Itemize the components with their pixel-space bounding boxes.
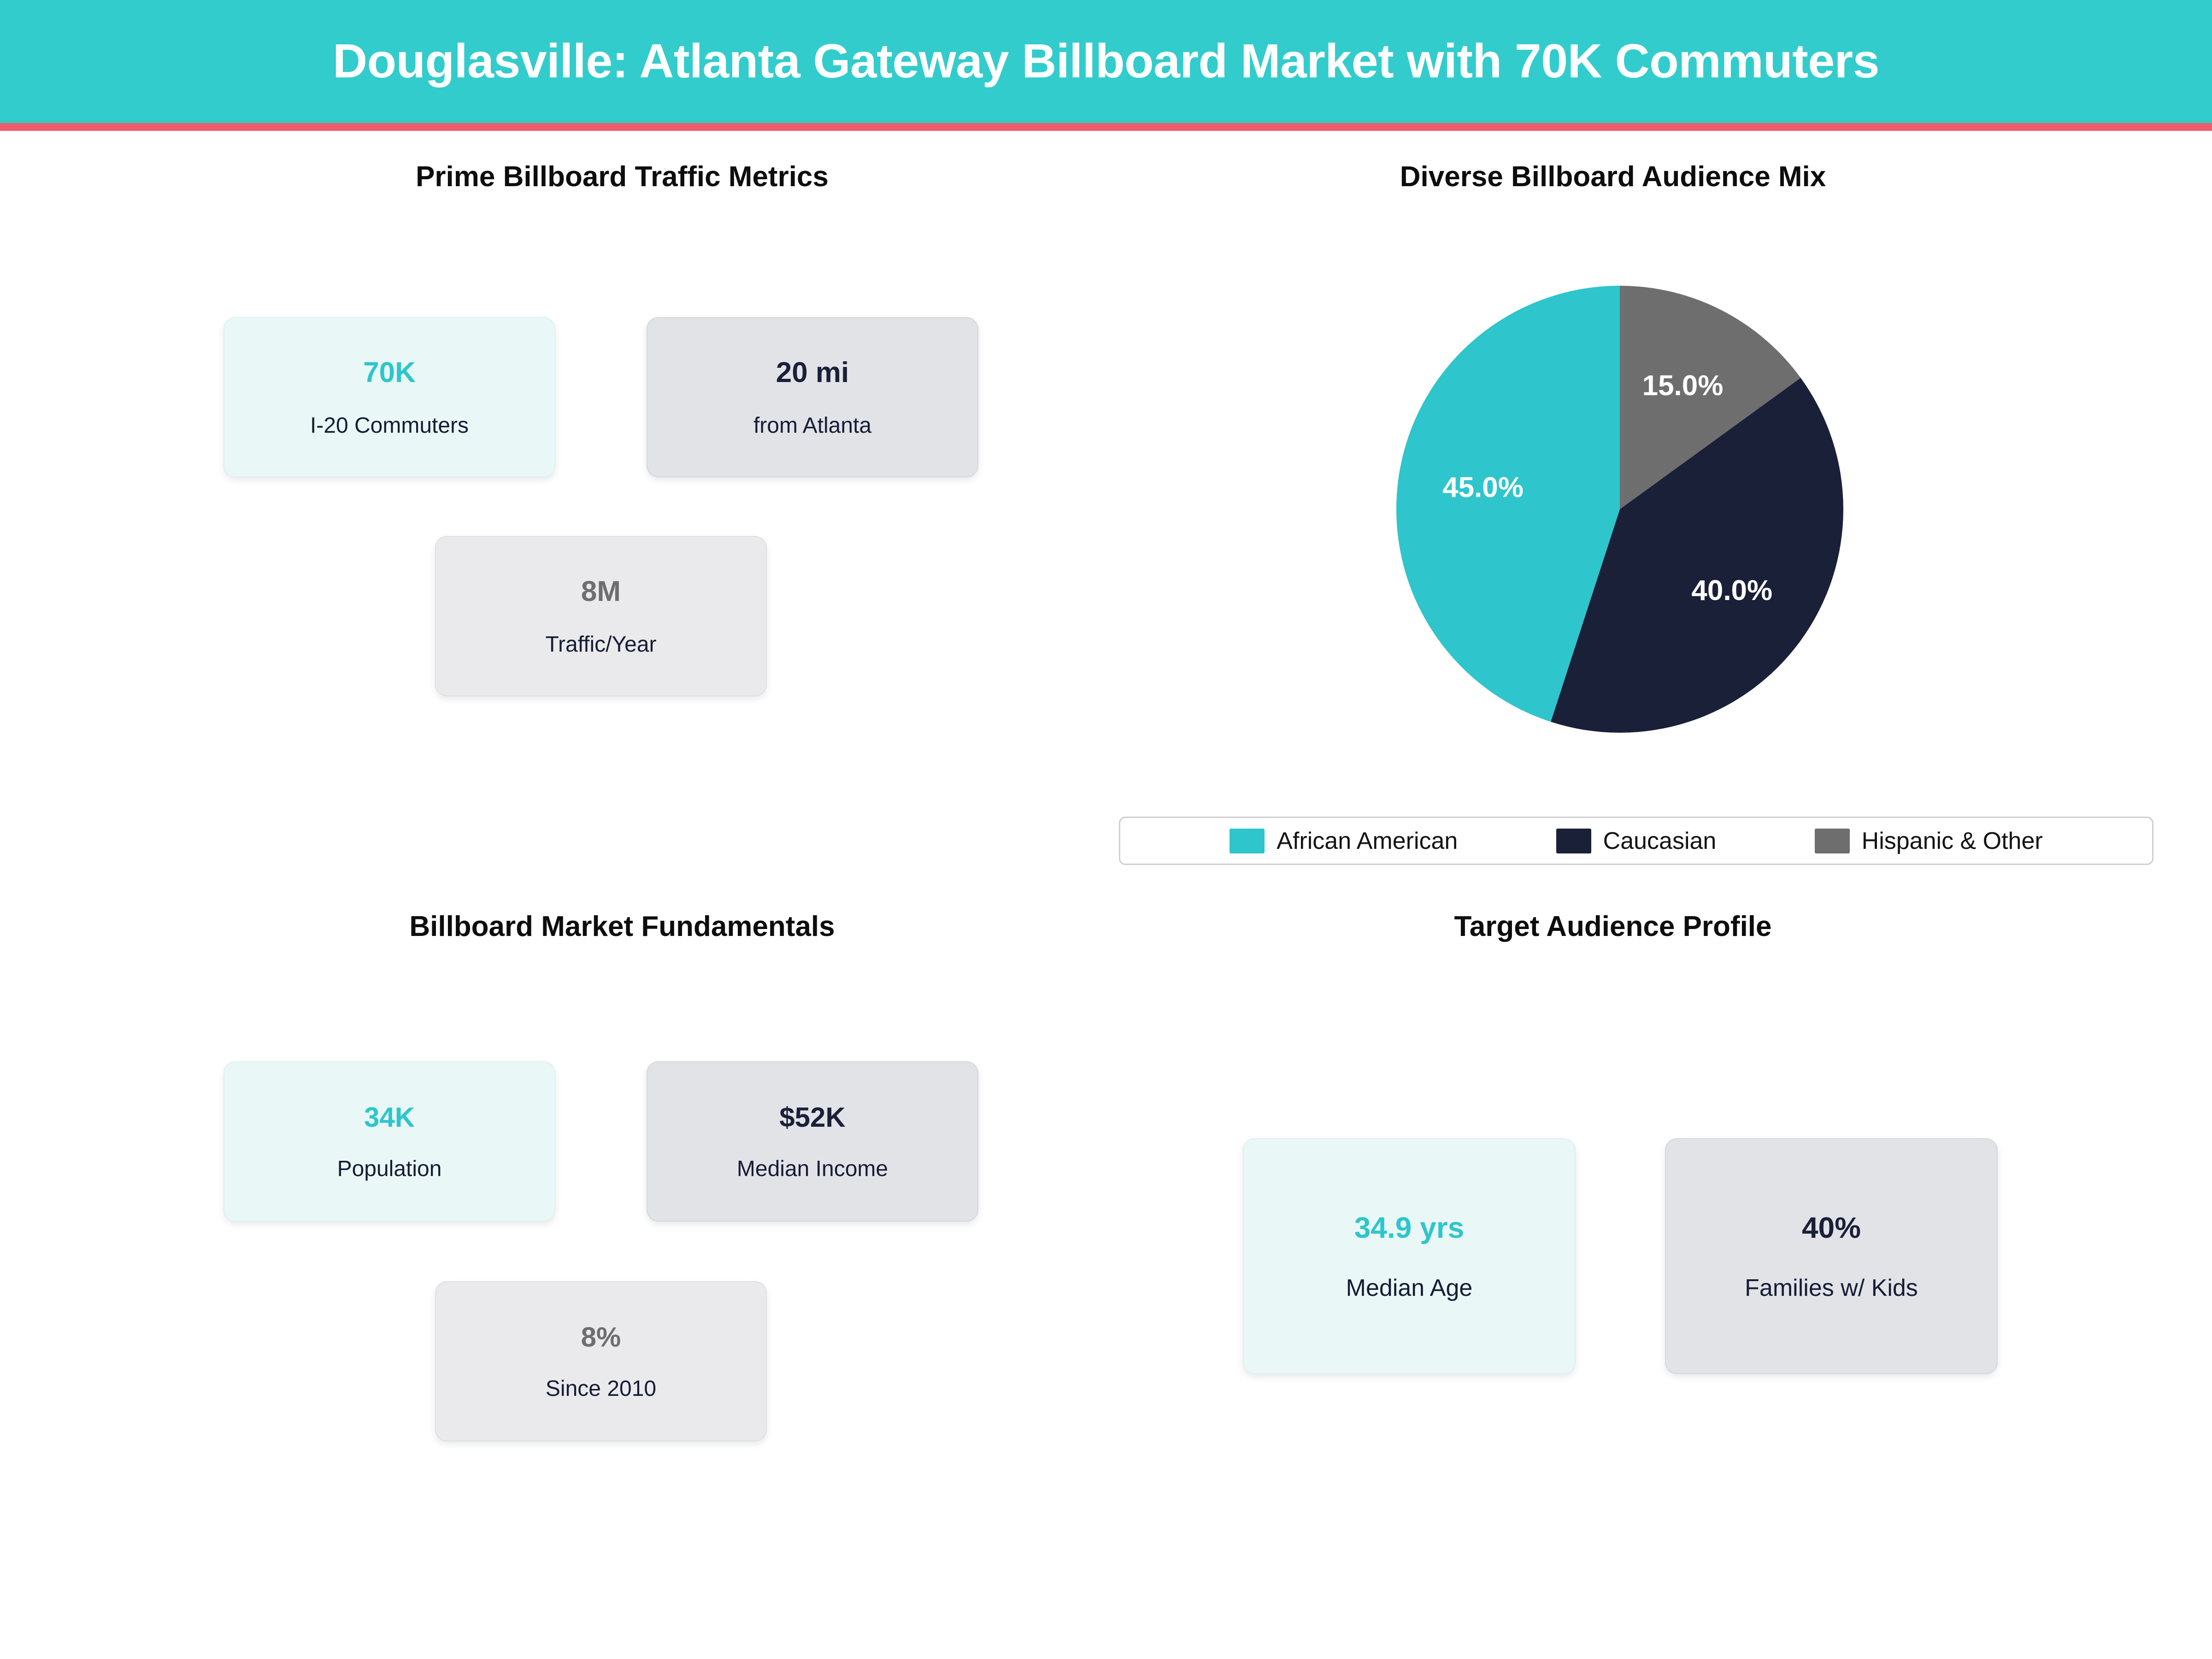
header-accent-rule [0,123,2212,131]
section-title-market-fundamentals: Billboard Market Fundamentals [184,910,1060,943]
metric-card-population[interactable]: 34K Population [224,1061,555,1222]
metric-label: I-20 Commuters [310,413,469,438]
metric-value: 8% [581,1321,621,1353]
audience-mix-pie-chart: 15.0%40.0%45.0% [1396,286,1843,733]
metric-label: Median Age [1346,1274,1473,1302]
legend-swatch-icon [1556,829,1591,853]
legend-swatch-icon [1815,829,1850,853]
metric-card-distance-from-atlanta[interactable]: 20 mi from Atlanta [647,317,978,477]
pie-slice-label: 15.0% [1642,370,1724,402]
metric-value: 20 mi [776,356,849,389]
metric-card-growth-since-2010[interactable]: 8% Since 2010 [435,1281,767,1441]
metric-value: 70K [363,356,416,389]
legend-label: African American [1277,827,1458,855]
legend-label: Hispanic & Other [1862,827,2043,855]
metric-label: Since 2010 [546,1376,656,1401]
legend-label: Caucasian [1603,827,1717,855]
section-title-traffic-metrics: Prime Billboard Traffic Metrics [184,160,1060,193]
metric-card-families-with-kids[interactable]: 40% Families w/ Kids [1665,1138,1998,1374]
metric-value: 34.9 yrs [1354,1211,1464,1245]
legend-swatch-icon [1230,829,1265,853]
pie-slice-label: 40.0% [1691,575,1772,606]
pie-legend: African AmericanCaucasianHispanic & Othe… [1119,817,2153,865]
pie-svg: 15.0%40.0%45.0% [1396,286,1843,733]
metric-label: from Atlanta [753,413,871,438]
metric-value: $52K [779,1101,845,1133]
metric-card-i20-commuters[interactable]: 70K I-20 Commuters [224,317,555,477]
metric-value: 40% [1802,1211,1861,1245]
header-bar: Douglasville: Atlanta Gateway Billboard … [0,0,2212,123]
metric-card-traffic-per-year[interactable]: 8M Traffic/Year [435,536,767,696]
metric-label: Families w/ Kids [1745,1274,1918,1302]
metric-card-median-age[interactable]: 34.9 yrs Median Age [1243,1138,1576,1374]
infographic-canvas: Douglasville: Atlanta Gateway Billboard … [0,0,2212,1659]
metric-value: 34K [364,1101,415,1133]
section-title-audience-profile: Target Audience Profile [1175,910,2051,943]
legend-item[interactable]: African American [1230,827,1458,855]
legend-item[interactable]: Caucasian [1556,827,1717,855]
pie-slice-label: 45.0% [1442,471,1524,503]
metric-value: 8M [581,575,621,608]
section-title-audience-mix: Diverse Billboard Audience Mix [1175,160,2051,193]
metric-card-median-income[interactable]: $52K Median Income [647,1061,978,1222]
page-title: Douglasville: Atlanta Gateway Billboard … [333,34,1879,89]
legend-item[interactable]: Hispanic & Other [1815,827,2043,855]
metric-label: Traffic/Year [545,632,656,657]
metric-label: Population [337,1156,442,1182]
metric-label: Median Income [737,1156,888,1182]
